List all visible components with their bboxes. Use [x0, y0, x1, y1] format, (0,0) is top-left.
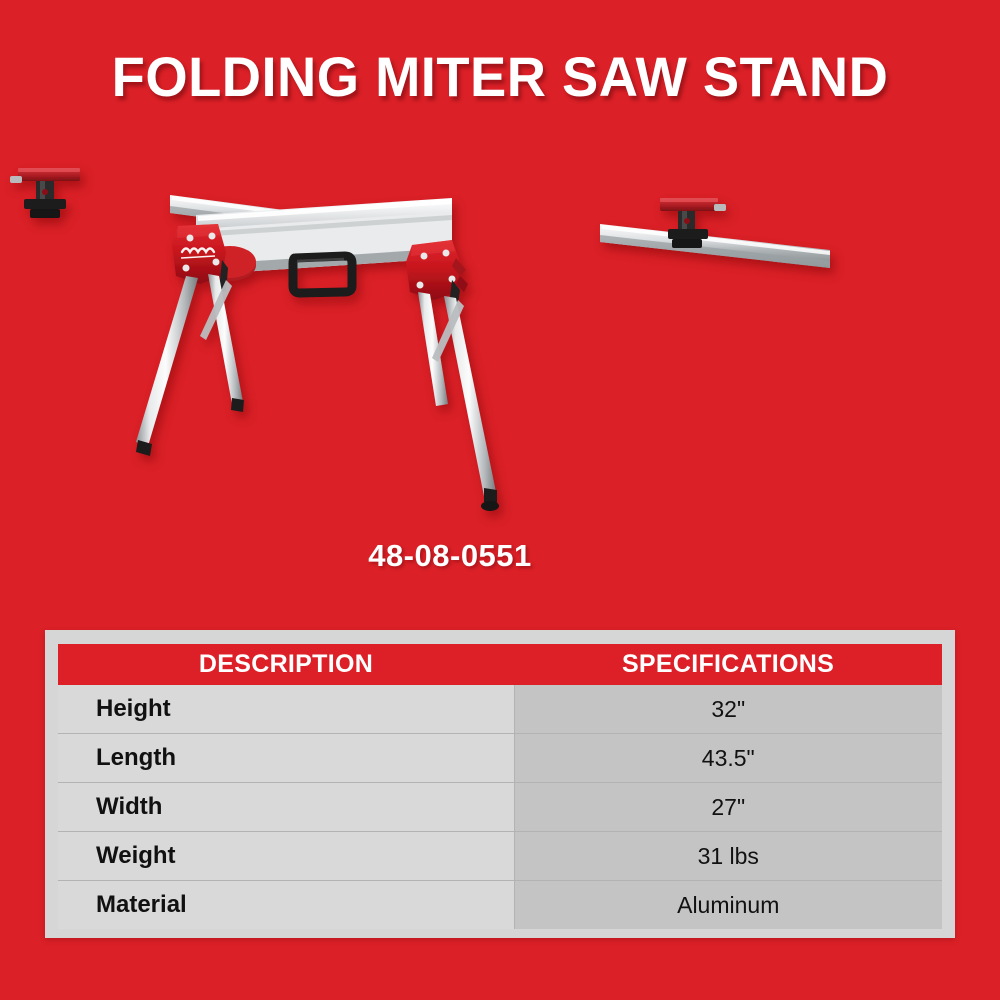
table-body: Height 32" Length 43.5" Width 27" Weight…	[58, 685, 942, 929]
cell-description: Height	[58, 685, 514, 734]
specifications-table: DESCRIPTION SPECIFICATIONS Height 32" Le…	[58, 644, 942, 929]
cell-specification: Aluminum	[514, 881, 942, 930]
folding-miter-saw-stand-illustration	[0, 140, 1000, 540]
table-row: Width 27"	[58, 783, 942, 832]
table-row: Weight 31 lbs	[58, 832, 942, 881]
specifications-panel: DESCRIPTION SPECIFICATIONS Height 32" Le…	[45, 630, 955, 938]
product-image	[0, 140, 1000, 540]
table-row: Material Aluminum	[58, 881, 942, 930]
model-number: 48-08-0551	[0, 538, 1000, 574]
column-header-specifications: SPECIFICATIONS	[514, 644, 942, 685]
left-material-stop	[10, 168, 80, 218]
page-title: FOLDING MITER SAW STAND	[15, 44, 985, 109]
cell-specification: 43.5"	[514, 734, 942, 783]
column-header-description: DESCRIPTION	[58, 644, 514, 685]
cell-specification: 27"	[514, 783, 942, 832]
cell-specification: 32"	[514, 685, 942, 734]
table-row: Length 43.5"	[58, 734, 942, 783]
table-row: Height 32"	[58, 685, 942, 734]
cell-description: Width	[58, 783, 514, 832]
cell-description: Weight	[58, 832, 514, 881]
cell-description: Material	[58, 881, 514, 930]
table-header-row: DESCRIPTION SPECIFICATIONS	[58, 644, 942, 685]
cell-description: Length	[58, 734, 514, 783]
cell-specification: 31 lbs	[514, 832, 942, 881]
leg-left-front	[136, 276, 198, 456]
